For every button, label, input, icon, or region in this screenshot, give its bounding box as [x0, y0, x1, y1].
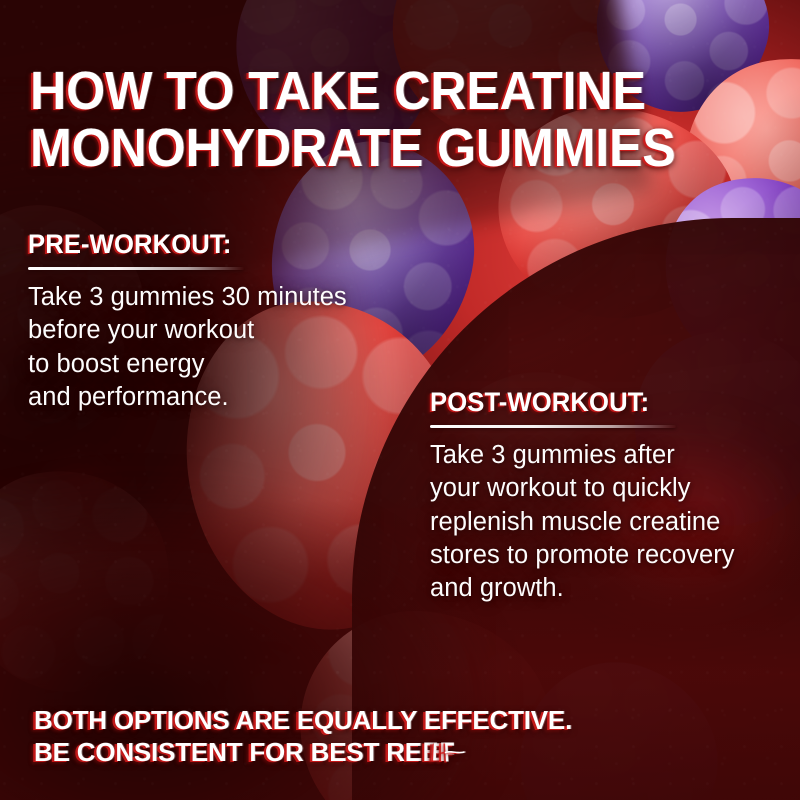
footer-line-1: BOTH OPTIONS ARE EQUALLY EFFECTIVE.	[34, 704, 774, 736]
garbled-glyph-4: E	[432, 736, 439, 767]
pre-workout-body: Take 3 gummies 30 minutes before your wo…	[28, 281, 428, 414]
pre-body-line-2: before your workout	[28, 314, 428, 347]
post-body-line-2: your workout to quickly	[430, 472, 790, 505]
pre-body-line-1: Take 3 gummies 30 minutes	[28, 281, 428, 314]
poster-content: HOW TO TAKE CREATINE MONOHYDRATE GUMMIES…	[0, 0, 800, 800]
footer-line-2-prefix: BE CONSISTENT FOR BEST RE	[34, 737, 422, 767]
garbled-glyph-7: ~	[443, 743, 467, 761]
post-body-line-1: Take 3 gummies after	[430, 439, 790, 472]
pre-body-line-3: to boost energy	[28, 348, 428, 381]
pre-workout-heading: PRE-WORKOUT:	[28, 230, 408, 258]
page-title: HOW TO TAKE CREATINE MONOHYDRATE GUMMIES	[30, 63, 681, 177]
pre-workout-underline-rule	[28, 267, 244, 270]
title-line-1: HOW TO TAKE CREATINE	[30, 63, 681, 120]
footer-callout: BOTH OPTIONS ARE EQUALLY EFFECTIVE. BE C…	[34, 704, 774, 768]
section-post-workout: POST-WORKOUT: Take 3 gummies after your …	[430, 388, 790, 605]
pre-body-line-4: and performance.	[28, 381, 428, 414]
footer-garbled-word-artifact: EH'EFF~	[422, 736, 462, 768]
infographic-poster: HOW TO TAKE CREATINE MONOHYDRATE GUMMIES…	[0, 0, 800, 800]
post-body-line-5: and growth.	[430, 572, 790, 605]
post-workout-heading: POST-WORKOUT:	[430, 388, 772, 416]
section-pre-workout: PRE-WORKOUT: Take 3 gummies 30 minutes b…	[28, 230, 428, 414]
post-body-line-4: stores to promote recovery	[430, 539, 790, 572]
footer-line-2: BE CONSISTENT FOR BEST REEH'EFF~	[34, 736, 774, 768]
post-workout-underline-rule	[430, 425, 676, 428]
post-body-line-3: replenish muscle creatine	[430, 506, 790, 539]
title-line-2: MONOHYDRATE GUMMIES	[30, 120, 681, 177]
post-workout-body: Take 3 gummies after your workout to qui…	[430, 439, 790, 605]
